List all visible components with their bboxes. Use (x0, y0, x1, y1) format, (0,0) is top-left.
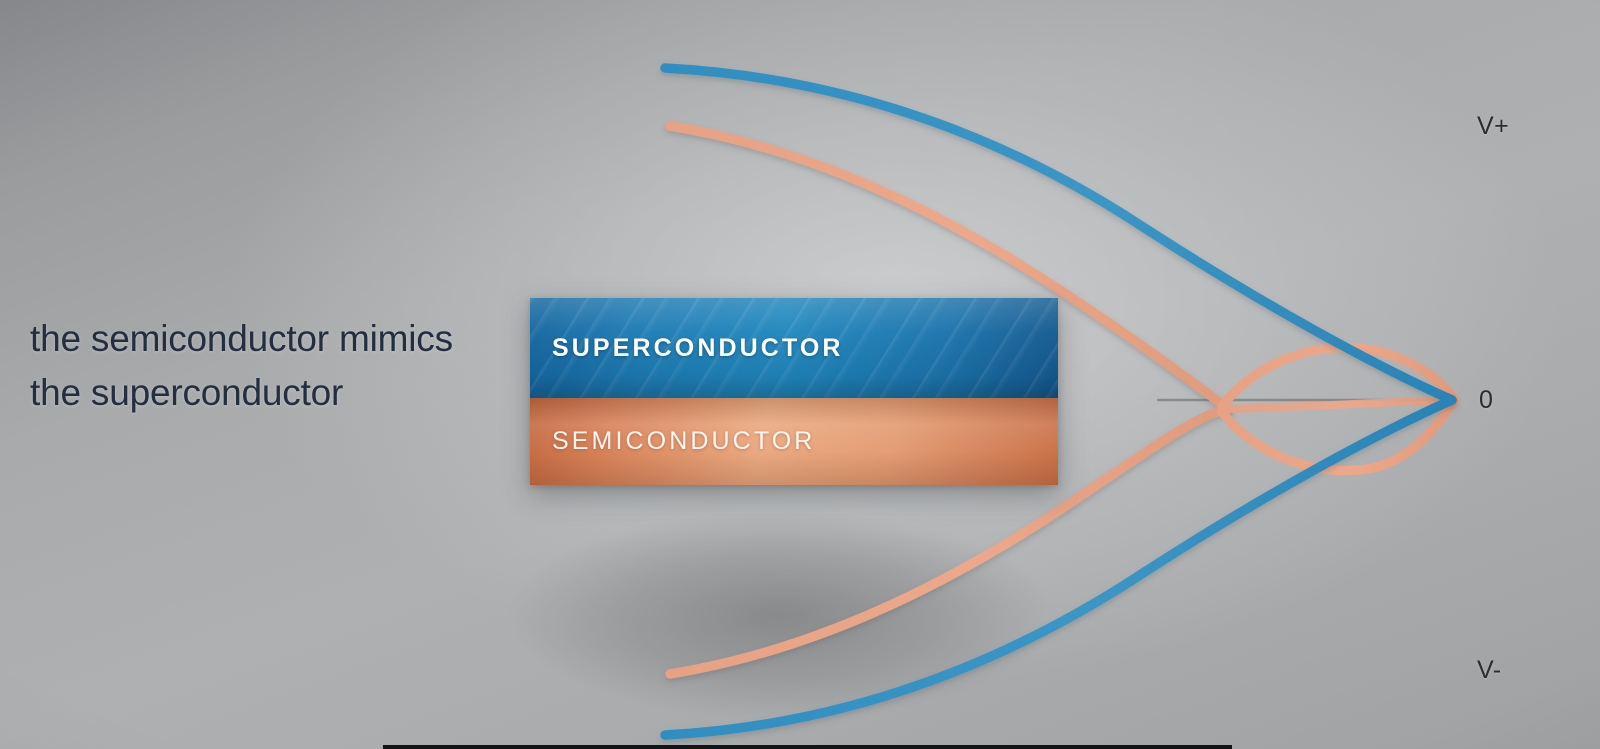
semiconductor-axis-tail (1228, 400, 1452, 409)
material-stack-panel: SUPERCONDUCTOR SEMICONDUCTOR (530, 298, 1058, 485)
semiconductor-label: SEMICONDUCTOR (552, 427, 815, 456)
superconductor-label: SUPERCONDUCTOR (552, 334, 844, 363)
axis-label-v-minus: V- (1477, 658, 1502, 683)
superconductor-band: SUPERCONDUCTOR (530, 298, 1058, 398)
video-progress-bar[interactable] (383, 745, 1232, 749)
semiconductor-band: SEMICONDUCTOR (530, 398, 1058, 485)
video-frame: the semiconductor mimics the superconduc… (0, 0, 1600, 749)
caption-text: the semiconductor mimics the superconduc… (30, 312, 460, 420)
axis-label-zero: 0 (1479, 388, 1493, 413)
axis-label-v-plus: V+ (1477, 114, 1509, 139)
